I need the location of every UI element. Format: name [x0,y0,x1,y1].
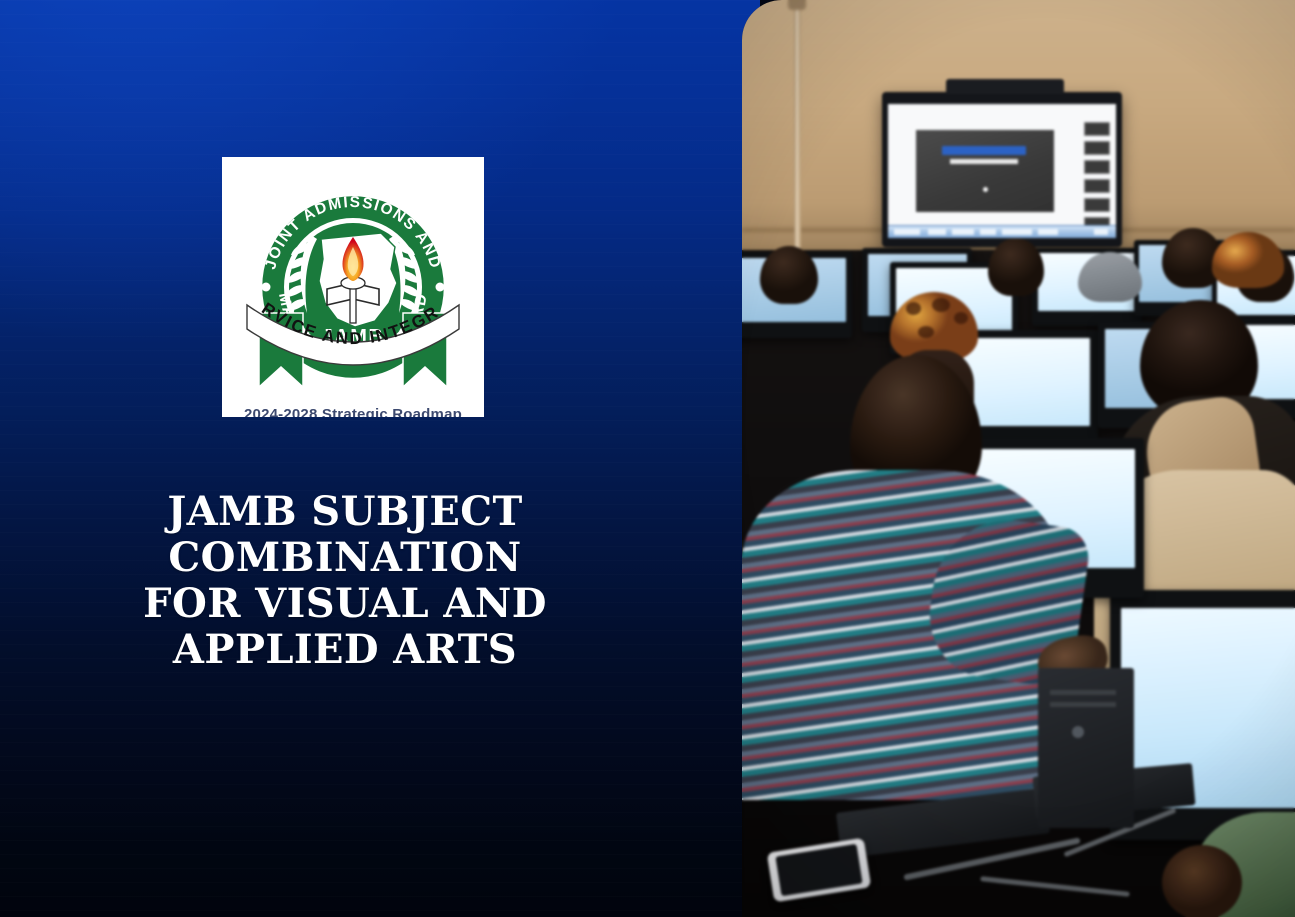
scarf-pattern-dot [906,302,921,315]
candidate-head [988,238,1044,296]
candidate-head [760,246,818,304]
slide-cursor-dot [983,187,988,192]
display-soundbar [946,79,1064,94]
title-line-1: JAMB SUBJECT [130,489,560,535]
photo-content [742,0,1295,917]
scarf-pattern-dot [954,312,968,324]
slide-title-bar [942,146,1026,155]
candidate-head [1162,845,1242,917]
scarf-pattern-dot [932,298,950,312]
pc-tower-vent [1050,690,1116,695]
page-title: JAMB SUBJECT COMBINATION FOR VISUAL AND … [130,489,560,673]
wall-mounted-display [882,92,1122,247]
slide-subtitle-bar [950,159,1018,164]
logo-cutoff-caption: 2024-2028 Strategic Roadmap [222,406,484,417]
display-screen [888,104,1116,238]
scarf-pattern-dot [918,326,934,338]
slide-thumbnail [1084,122,1110,136]
display-taskbar [888,225,1116,238]
jamb-logo-icon: JOINT ADMISSIONS AND MATRICULATION BOARD [233,163,473,401]
left-gradient-panel [0,0,760,917]
title-line-4: APPLIED ARTS [130,627,560,673]
poster-root: JOINT ADMISSIONS AND MATRICULATION BOARD [0,0,1295,917]
wall-pipe [794,0,801,255]
title-line-3: FOR VISUAL AND [130,581,560,627]
jamb-logo-card: JOINT ADMISSIONS AND MATRICULATION BOARD [222,157,484,417]
slide-thumbnail [1084,179,1110,193]
slide-thumbnail [1084,198,1110,212]
presentation-slide [916,130,1054,212]
slide-thumbnail [1084,141,1110,155]
slide-thumbnail-rail [1084,122,1110,236]
slide-thumbnail [1084,160,1110,174]
pc-tower-power-led [1072,726,1084,738]
cbt-exam-hall-photo [742,0,1295,917]
wall-pipe-cap [788,0,806,10]
pc-tower-vent [1050,702,1116,707]
title-line-2: COMBINATION [130,535,560,581]
